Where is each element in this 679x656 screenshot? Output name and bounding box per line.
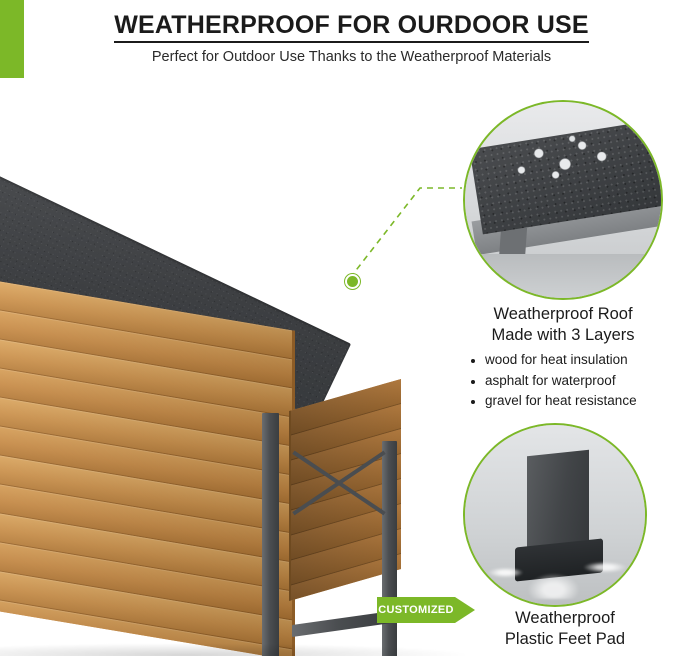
leader-anchor-dot (345, 274, 360, 289)
page-subtitle: Perfect for Outdoor Use Thanks to the We… (152, 50, 551, 66)
dog-house-illustration (0, 163, 462, 656)
callout-roof-heading-line1: Weatherproof Roof (493, 305, 632, 323)
list-item: gravel for heat resistance (485, 391, 670, 411)
list-item: wood for heat insulation (485, 350, 670, 370)
list-item: asphalt for waterproof (485, 371, 670, 391)
callout-roof-heading: Weatherproof Roof Made with 3 Layers (463, 304, 663, 346)
callout-feet-image (463, 423, 647, 607)
water-splash-feet (471, 533, 643, 599)
header-banner-content: WEATHERPROOF FOR OURDOOR USE Perfect for… (24, 0, 679, 78)
header-banner: WEATHERPROOF FOR OURDOOR USE Perfect for… (0, 0, 679, 78)
product-photo: Weatherproof Roof Made with 3 Layers woo… (0, 78, 679, 656)
product-infographic: WEATHERPROOF FOR OURDOOR USE Perfect for… (0, 0, 679, 656)
customized-badge-label: CUSTOMIZED (378, 604, 454, 616)
callout-roof-image (463, 100, 663, 300)
floor-shadow (0, 643, 472, 656)
wall-shading (0, 275, 292, 656)
callout-roof-bullets: wood for heat insulation asphalt for wat… (470, 350, 670, 412)
callout-feet-heading-line1: Weatherproof (515, 609, 615, 627)
front-wall-planks (0, 275, 295, 656)
metal-post-front (262, 413, 279, 656)
callout-roof-heading-line2: Made with 3 Layers (491, 326, 634, 344)
callout-feet-heading: Weatherproof Plastic Feet Pad (460, 608, 670, 650)
customized-badge-box: CUSTOMIZED (377, 597, 455, 623)
callout-feet-heading-line2: Plastic Feet Pad (505, 630, 625, 648)
page-title: WEATHERPROOF FOR OURDOOR USE (114, 12, 589, 43)
